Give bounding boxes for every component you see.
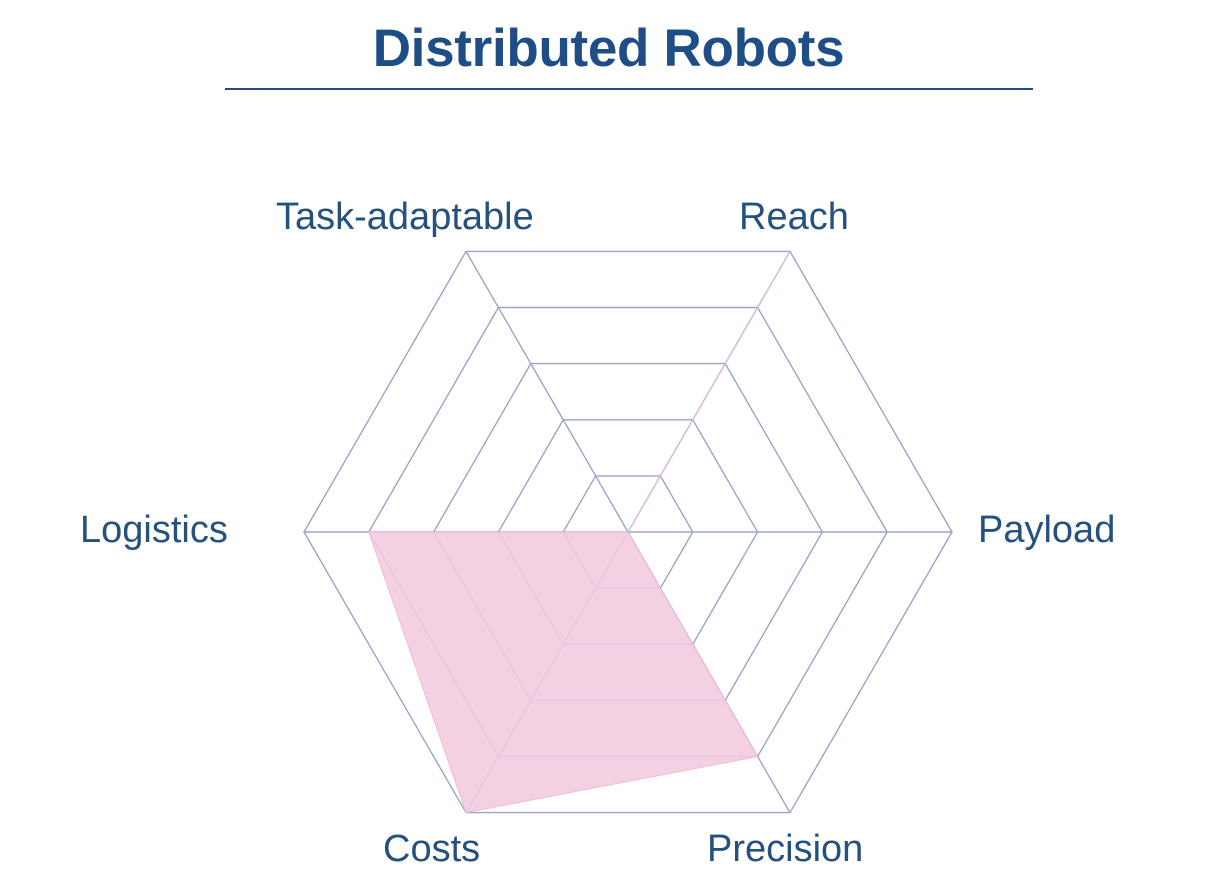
axis-label-reach: Reach [739,195,849,239]
axis-label-costs: Costs [383,827,480,871]
radar-chart: Task-adaptable Reach Payload Precision C… [0,130,1217,891]
title-underline-rule [225,88,1033,90]
axis-label-logistics: Logistics [80,508,228,552]
axis-label-precision: Precision [707,827,863,871]
slide-canvas: Distributed Robots Task-adaptable Reach … [0,0,1217,891]
axis-label-payload: Payload [978,508,1115,552]
page-title: Distributed Robots [0,18,1217,80]
title-block: Distributed Robots [0,18,1217,80]
spoke-task-adaptable [466,251,628,532]
axis-label-task-adaptable: Task-adaptable [276,195,534,239]
